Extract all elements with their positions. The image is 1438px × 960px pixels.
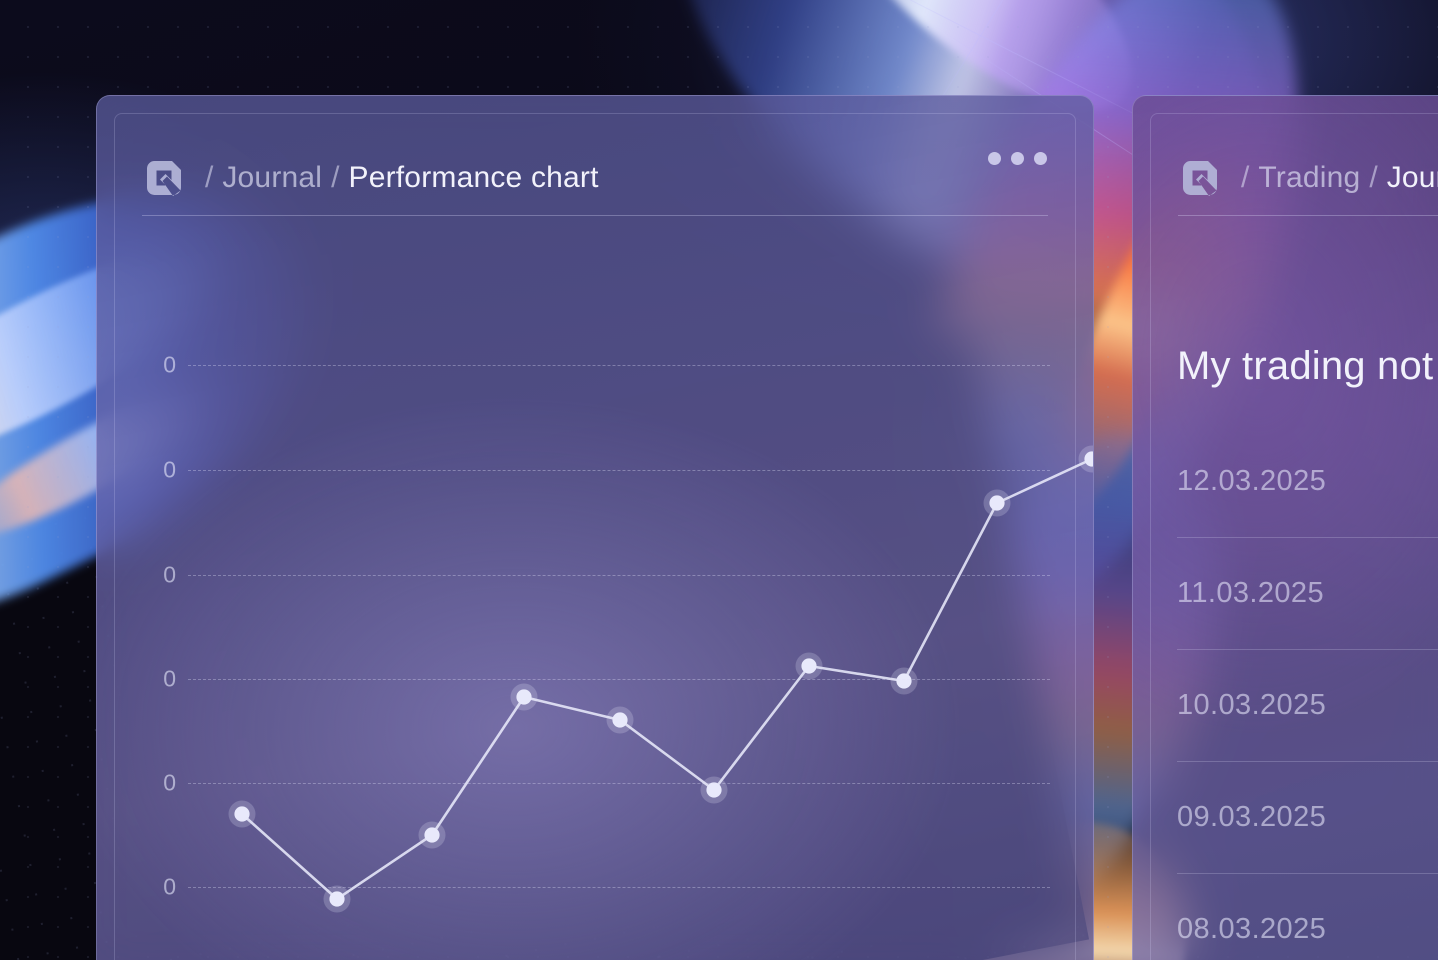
data-point-marker[interactable] [424,827,439,842]
three-dots-menu-icon[interactable] [988,152,1047,165]
breadcrumb-current: Journ [1387,161,1438,195]
data-point-marker[interactable] [706,782,721,797]
y-axis-tick-label: 0 [163,457,176,484]
line-chart[interactable]: 0000000 TEXTTEXTTEXTTEXTTEXTTEXTTEXTTEXT [142,256,1050,960]
breadcrumb: / Journal / Performance chart [196,161,599,195]
data-point-marker[interactable] [896,673,911,688]
breadcrumb-current: Performance chart [348,161,598,195]
breadcrumb-separator-1: / [1232,161,1258,195]
y-axis-tick-label: 0 [163,666,176,693]
menu-dot-1 [988,152,1001,165]
data-point-marker[interactable] [612,712,627,727]
breadcrumb-separator-1: / [196,161,222,195]
table-row[interactable]: 12.03.20254 [1177,426,1438,538]
y-axis-tick-label: 0 [163,352,176,379]
quantum-q-logo-icon [1178,156,1222,200]
table-row[interactable]: 10.03.20254 [1177,650,1438,762]
chart-card-header: / Journal / Performance chart [142,141,1048,216]
data-point-marker[interactable] [516,689,531,704]
trading-notes-card: / Trading / Journ My trading not 12.03.2… [1132,95,1438,960]
data-point-marker[interactable] [801,658,816,673]
data-point-marker[interactable] [989,495,1004,510]
data-point-marker[interactable] [234,806,249,821]
note-date: 10.03.2025 [1177,689,1326,722]
trading-notes-list: 12.03.2025411.03.20251210.03.2025409.03.… [1177,426,1438,960]
y-axis-tick-label: 0 [163,562,176,589]
table-row[interactable]: 11.03.202512 [1177,538,1438,650]
quantum-q-logo-icon [142,156,186,200]
note-date: 09.03.2025 [1177,801,1326,834]
page-title: My trading not [1177,344,1433,389]
data-point-marker[interactable] [329,891,344,906]
table-row[interactable]: 09.03.20255 [1177,762,1438,874]
notes-card-header: / Trading / Journ [1178,141,1438,216]
menu-dot-3 [1034,152,1047,165]
chart-gridline [188,887,1050,888]
note-date: 12.03.2025 [1177,465,1326,498]
y-axis-tick-label: 0 [163,770,176,797]
note-date: 11.03.2025 [1177,577,1324,610]
y-axis-labels: 0000000 [142,256,188,960]
breadcrumb-separator-2: / [322,161,348,195]
y-axis-tick-label: 0 [163,874,176,901]
performance-chart-card: / Journal / Performance chart 0000000 TE… [96,95,1094,960]
chart-gridline [188,470,1050,471]
breadcrumb-parent[interactable]: Trading [1258,161,1360,195]
breadcrumb: / Trading / Journ [1232,161,1438,195]
chart-gridline [188,783,1050,784]
chart-series-line [188,256,1050,960]
chart-gridline [188,679,1050,680]
screenshot-stage: / Journal / Performance chart 0000000 TE… [0,0,1438,960]
menu-dot-2 [1011,152,1024,165]
note-date: 08.03.2025 [1177,913,1326,946]
breadcrumb-parent[interactable]: Journal [222,161,322,195]
chart-plot-area [188,256,1050,960]
chart-gridline [188,575,1050,576]
table-row[interactable]: 08.03.20256 [1177,874,1438,960]
breadcrumb-separator-2: / [1360,161,1386,195]
chart-gridline [188,365,1050,366]
